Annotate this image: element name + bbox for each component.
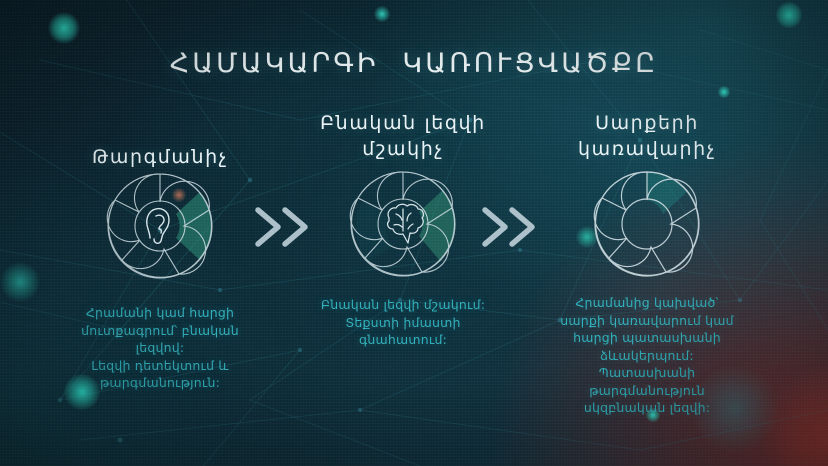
column-body-text: Հրամանի կամ հարցի մուտքագրում՝ բնական լե…	[45, 304, 275, 392]
slide-canvas: ՀԱՄԱԿԱՐԳԻ ԿԱՌՈՒՑՎԱԾՔԸ Թարգմանիչ	[0, 0, 828, 466]
column-heading: Թարգմանիչ	[45, 118, 275, 170]
bokeh-glow	[776, 2, 802, 28]
page-title: ՀԱՄԱԿԱՐԳԻ ԿԱՌՈՒՑՎԱԾՔԸ	[0, 48, 828, 79]
ear-in-ring-icon	[106, 172, 214, 280]
column-body-text: Բնական լեզվի մշակում: Տեքստի իմաստի գնահ…	[288, 296, 518, 349]
column-translator: Թարգմանիչ	[45, 118, 275, 392]
ring-icon	[593, 170, 701, 278]
bokeh-glow	[760, 360, 828, 466]
column-device-manager: Սարքերի կառավարիչ Հ	[532, 110, 762, 417]
column-heading: Սարքերի կառավարիչ	[532, 110, 762, 162]
bokeh-glow	[0, 262, 40, 302]
column-body-text: Հրամանից կախված՝ սարքի կառավարում կամ հա…	[532, 294, 762, 417]
brain-in-ring-icon	[349, 170, 457, 278]
column-heading: Բնական լեզվի մշակիչ	[288, 110, 518, 162]
bokeh-glow	[718, 86, 730, 98]
bokeh-glow	[374, 6, 390, 22]
bokeh-glow	[48, 12, 80, 44]
